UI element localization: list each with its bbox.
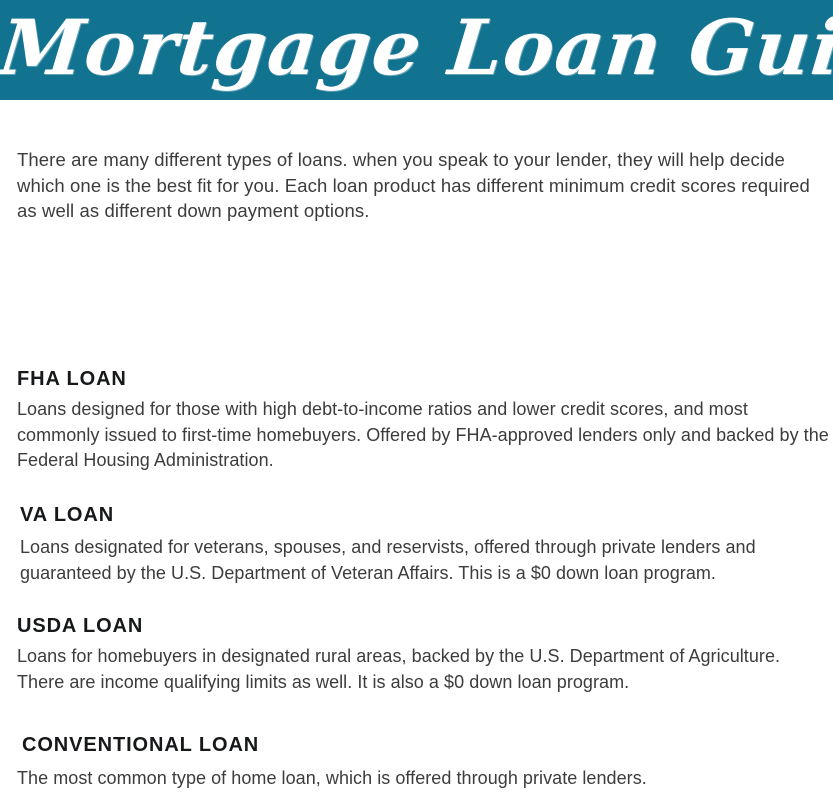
section-heading-conventional-loan: CONVENTIONAL LOAN [22,733,831,757]
section-conventional-loan: CONVENTIONAL LOAN The most common type o… [17,733,831,792]
section-heading-va-loan: VA LOAN [20,503,810,527]
section-body-conventional-loan: The most common type of home loan, which… [17,766,831,792]
section-body-usda-loan: Loans for homebuyers in designated rural… [17,644,831,695]
section-body-va-loan: Loans designated for veterans, spouses, … [20,535,810,586]
section-heading-fha-loan: FHA LOAN [17,367,831,391]
section-body-fha-loan: Loans designed for those with high debt-… [17,397,831,474]
intro-paragraph: There are many different types of loans.… [17,147,817,224]
header-banner: Mortgage Loan Guide [0,0,833,100]
section-usda-loan: USDA LOAN Loans for homebuyers in design… [17,614,831,695]
section-va-loan: VA LOAN Loans designated for veterans, s… [20,503,810,586]
page-title: Mortgage Loan Guide [0,0,833,100]
section-fha-loan: FHA LOAN Loans designed for those with h… [17,367,831,474]
section-heading-usda-loan: USDA LOAN [17,614,831,638]
